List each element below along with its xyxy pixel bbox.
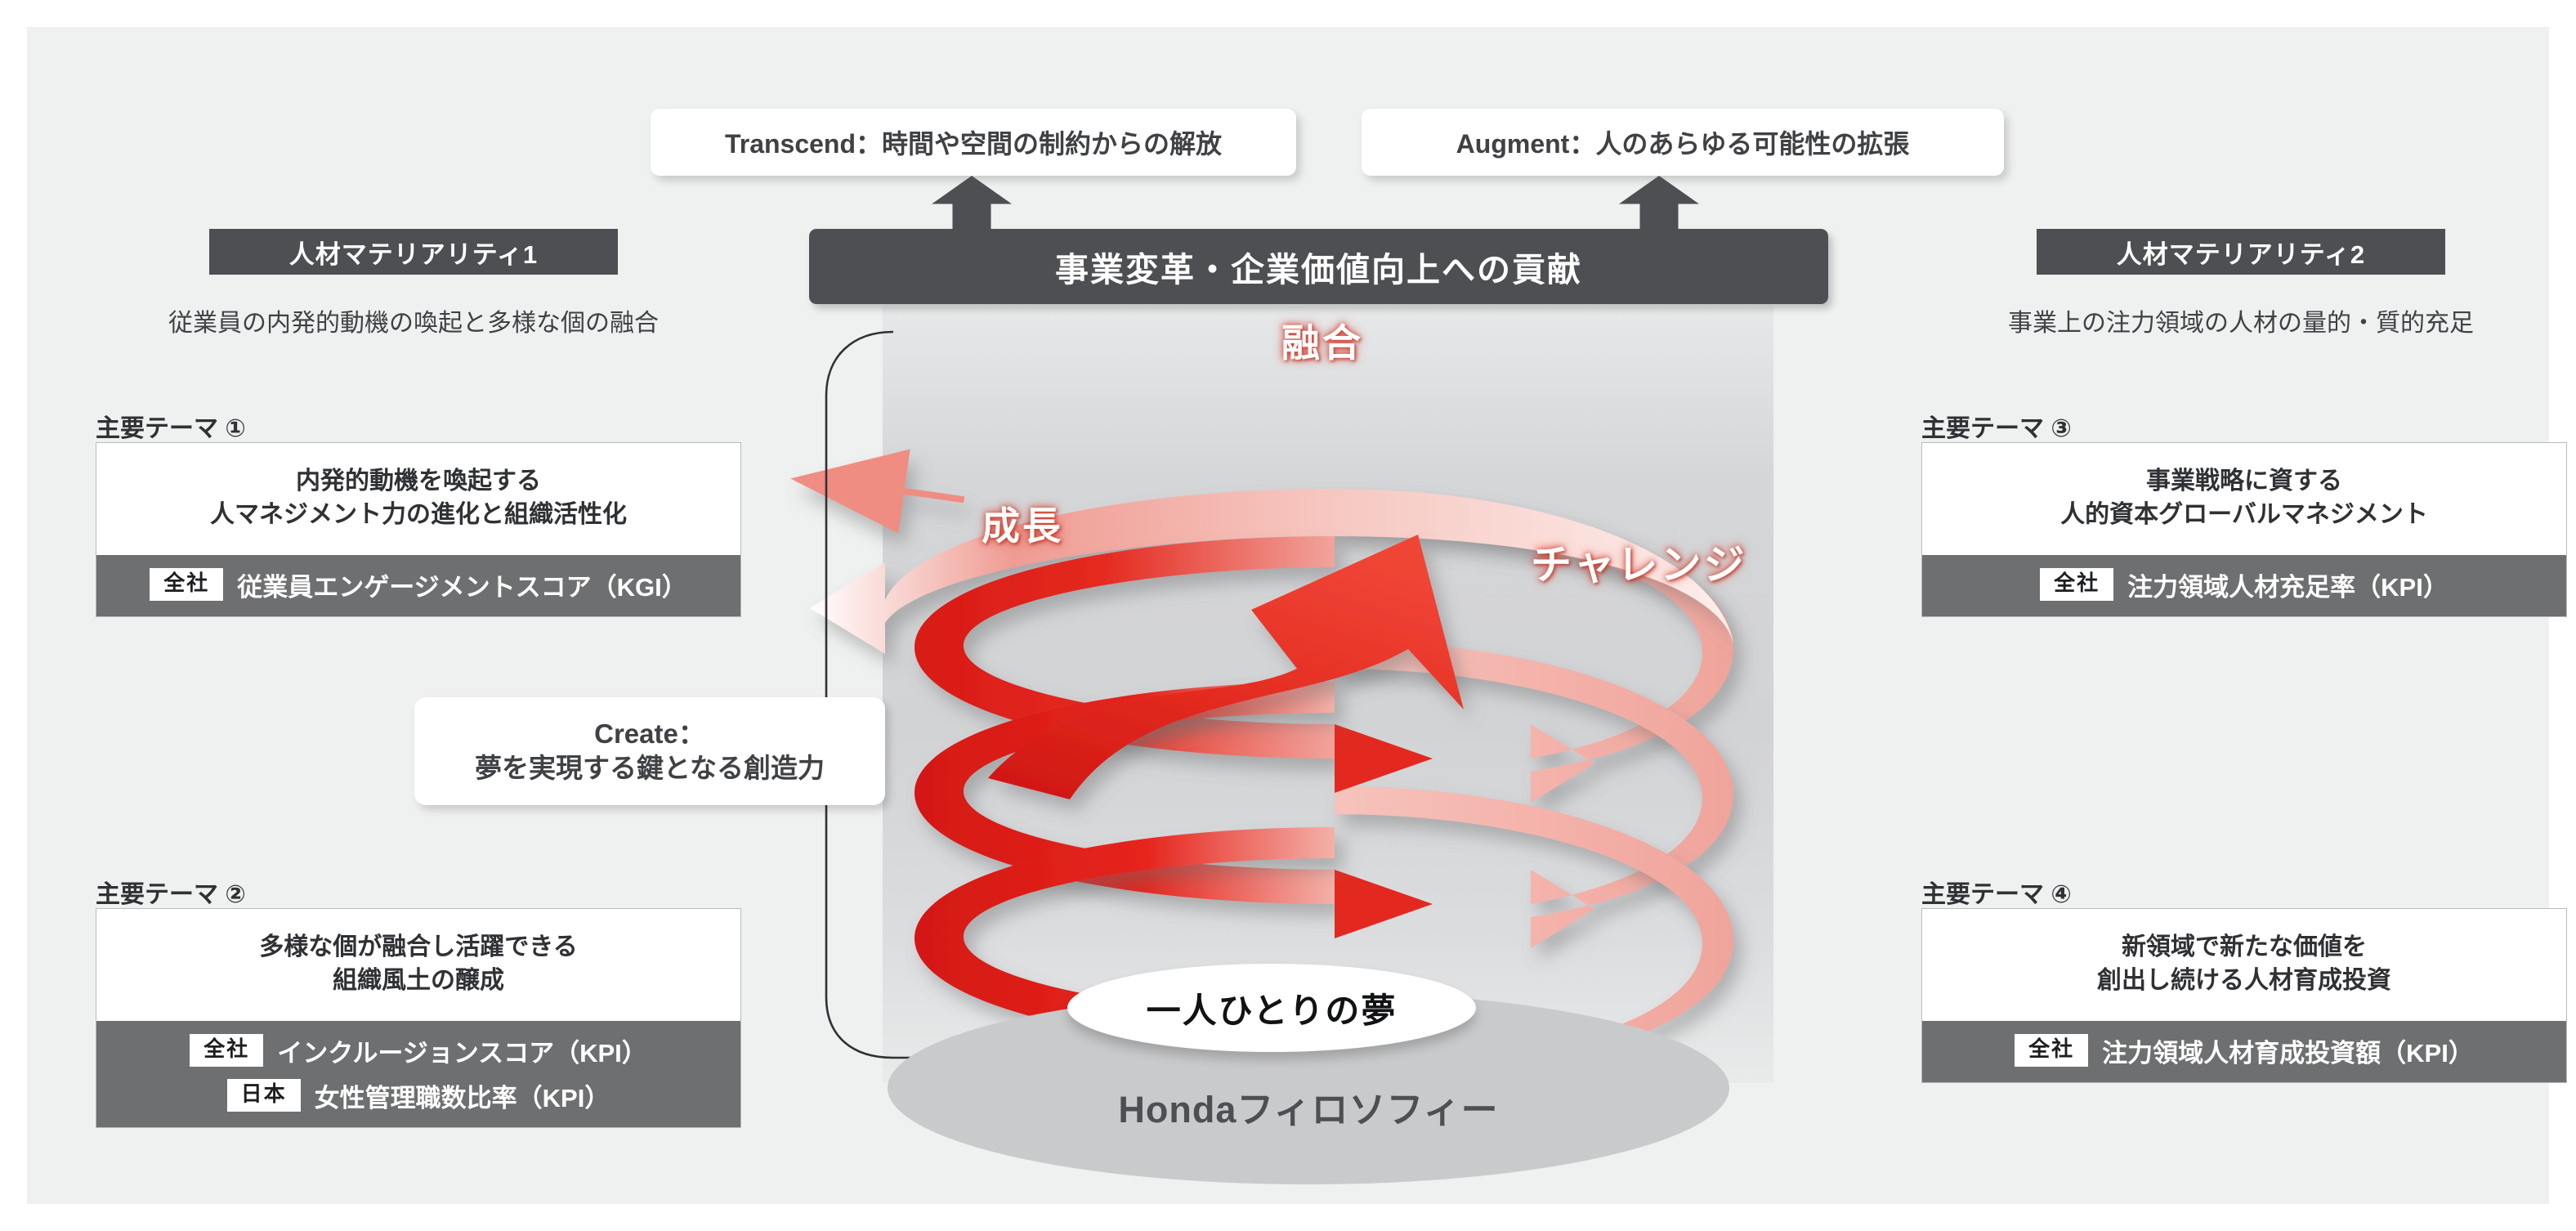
theme-card-4: 新領域で新たな価値を 創出し続ける人材育成投資 全社 注力領域人材育成投資額（K… — [1921, 908, 2567, 1083]
kpi-row: 全社 インクルージョンスコア（KPI） — [190, 1032, 647, 1069]
kpi-row: 全社 従業員エンゲージメントスコア（KGI） — [150, 566, 687, 603]
up-arrow-augment-icon — [1619, 176, 1699, 235]
materiality-chip-2: 人材マテリアリティ2 — [2037, 229, 2445, 275]
diagram-panel: 融合 成長 チャレンジ Hondaフィロソフィー 一人ひとりの夢 Transce… — [27, 27, 2549, 1204]
kpi-label: 注力領域人材充足率（KPI） — [2127, 566, 2449, 603]
materiality-chip-1-label: 人材マテリアリティ1 — [289, 234, 538, 271]
callout-augment: Augment：人のあらゆる可能性の拡張 — [1362, 109, 2004, 176]
theme-title-2: 多様な個が融合し活躍できる 組織風土の醸成 — [96, 909, 740, 1021]
theme-kpi-band-1: 全社 従業員エンゲージメントスコア（KGI） — [96, 555, 740, 616]
theme-label-3: 主要テーマ ③ — [1921, 408, 2072, 444]
philosophy-label: Hondaフィロソフィー — [1118, 1080, 1498, 1133]
kpi-scope-badge: 全社 — [2040, 568, 2113, 601]
kpi-row: 全社 注力領域人材充足率（KPI） — [2040, 566, 2449, 603]
kpi-label: インクルージョンスコア（KPI） — [277, 1032, 647, 1069]
theme-kpi-band-4: 全社 注力領域人材育成投資額（KPI） — [1922, 1021, 2566, 1082]
spiral-label-growth: 成長 — [982, 495, 1063, 551]
kpi-label: 注力領域人材育成投資額（KPI） — [2102, 1032, 2474, 1069]
theme-card-1: 内発的動機を喚起する 人マネジメント力の進化と組織活性化 全社 従業員エンゲージ… — [96, 442, 741, 617]
theme-title-3: 事業戦略に資する 人的資本グローバルマネジメント — [1922, 443, 2566, 555]
callout-create-line2: 夢を実現する鍵となる創造力 — [475, 751, 825, 786]
materiality-subtitle-1: 従業員の内発的動機の喚起と多様な個の融合 — [127, 302, 700, 338]
callout-create-line1: Create： — [594, 717, 705, 751]
spiral-label-challenge: チャレンジ — [1531, 532, 1747, 591]
materiality-chip-2-label: 人材マテリアリティ2 — [2117, 234, 2365, 271]
theme-label-2: 主要テーマ ② — [96, 874, 246, 910]
up-arrow-transcend-icon — [932, 176, 1012, 235]
contribution-headline-text: 事業変革・企業価値向上への貢献 — [1055, 242, 1582, 291]
theme-label-4: 主要テーマ ④ — [1921, 874, 2072, 910]
theme-card-2: 多様な個が融合し活躍できる 組織風土の醸成 全社 インクルージョンスコア（KPI… — [96, 908, 741, 1128]
callout-augment-text: Augment：人のあらゆる可能性の拡張 — [1456, 123, 1910, 161]
spiral-label-fusion: 融合 — [1281, 311, 1363, 368]
kpi-row: 日本 女性管理職数比率（KPI） — [227, 1077, 610, 1114]
callout-transcend-text: Transcend：時間や空間の制約からの解放 — [725, 123, 1222, 161]
individual-dream-ellipse: 一人ひとりの夢 — [1067, 964, 1476, 1052]
kpi-label: 従業員エンゲージメントスコア（KGI） — [237, 566, 687, 603]
theme-card-3: 事業戦略に資する 人的資本グローバルマネジメント 全社 注力領域人材充足率（KP… — [1921, 442, 2567, 617]
kpi-label: 女性管理職数比率（KPI） — [315, 1077, 610, 1114]
theme-label-1: 主要テーマ ① — [96, 408, 246, 444]
kpi-scope-badge: 日本 — [227, 1079, 301, 1112]
callout-create: Create： 夢を実現する鍵となる創造力 — [414, 697, 885, 805]
dream-label: 一人ひとりの夢 — [1147, 983, 1398, 1033]
kpi-scope-badge: 全社 — [2015, 1034, 2088, 1067]
kpi-scope-badge: 全社 — [150, 568, 223, 601]
callout-transcend: Transcend：時間や空間の制約からの解放 — [651, 109, 1296, 176]
theme-title-1: 内発的動機を喚起する 人マネジメント力の進化と組織活性化 — [96, 443, 740, 555]
materiality-subtitle-2: 事業上の注力領域の人材の量的・質的充足 — [1955, 302, 2527, 338]
materiality-chip-1: 人材マテリアリティ1 — [209, 229, 618, 275]
theme-kpi-band-2: 全社 インクルージョンスコア（KPI） 日本 女性管理職数比率（KPI） — [96, 1021, 740, 1127]
kpi-scope-badge: 全社 — [190, 1034, 263, 1067]
theme-title-4: 新領域で新たな価値を 創出し続ける人材育成投資 — [1922, 909, 2566, 1021]
contribution-headline-bar: 事業変革・企業価値向上への貢献 — [809, 229, 1828, 304]
kpi-row: 全社 注力領域人材育成投資額（KPI） — [2015, 1032, 2474, 1069]
theme-kpi-band-3: 全社 注力領域人材充足率（KPI） — [1922, 555, 2566, 616]
